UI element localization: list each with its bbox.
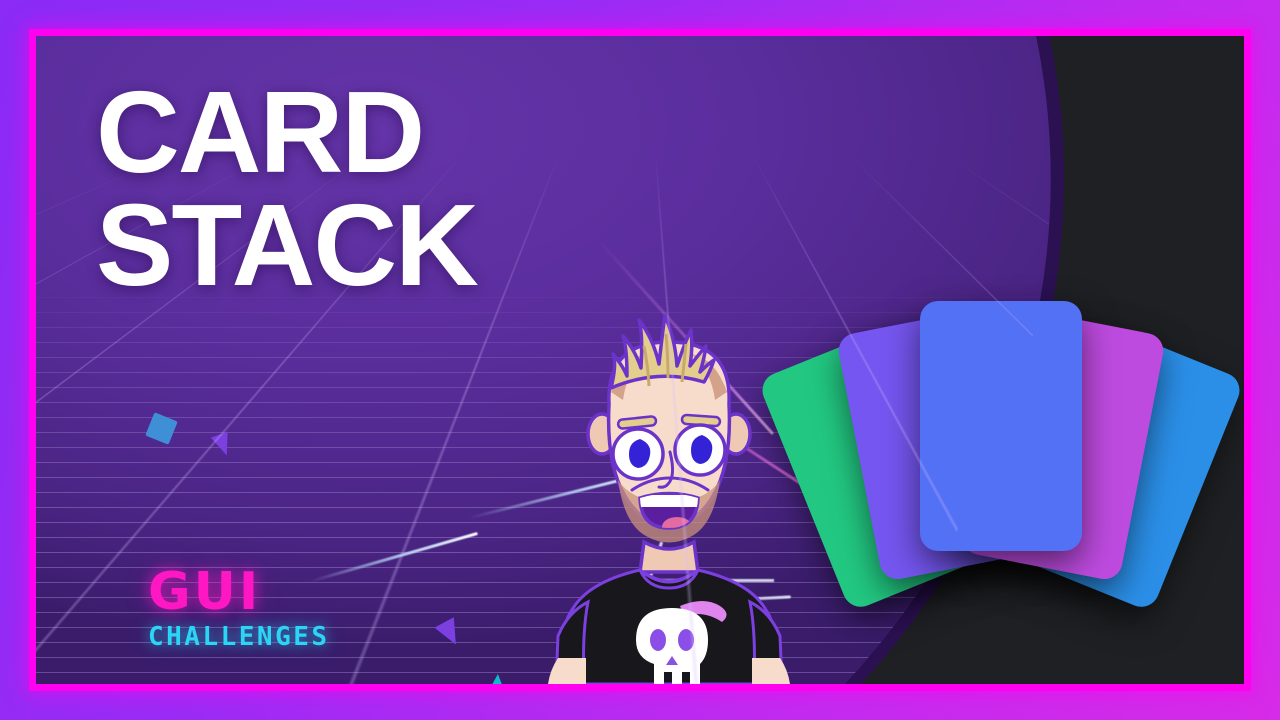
triangle-cyan-shape [484,673,510,684]
card-blue-front[interactable] [920,301,1082,551]
host-avatar-illustration [514,284,824,684]
neck [640,542,698,572]
arm-right [752,658,790,684]
title-line-1: CARD [96,67,423,197]
skull-eye-left [650,629,666,651]
brand-logo-secondary: CHALLENGES [148,624,330,650]
brand-logo-primary: GUI [148,566,330,618]
host-avatar [514,284,824,684]
page-title: CARD STACK [96,76,477,301]
thumbnail-stage: CARD STACK GUI CHALLENGES [0,0,1280,720]
skull-eye-right [678,629,694,651]
content-panel: CARD STACK GUI CHALLENGES [36,36,1244,684]
teeth [638,495,700,507]
arm-left [548,658,586,684]
title-line-2: STACK [96,189,477,302]
brand-logo: GUI CHALLENGES [148,566,330,650]
